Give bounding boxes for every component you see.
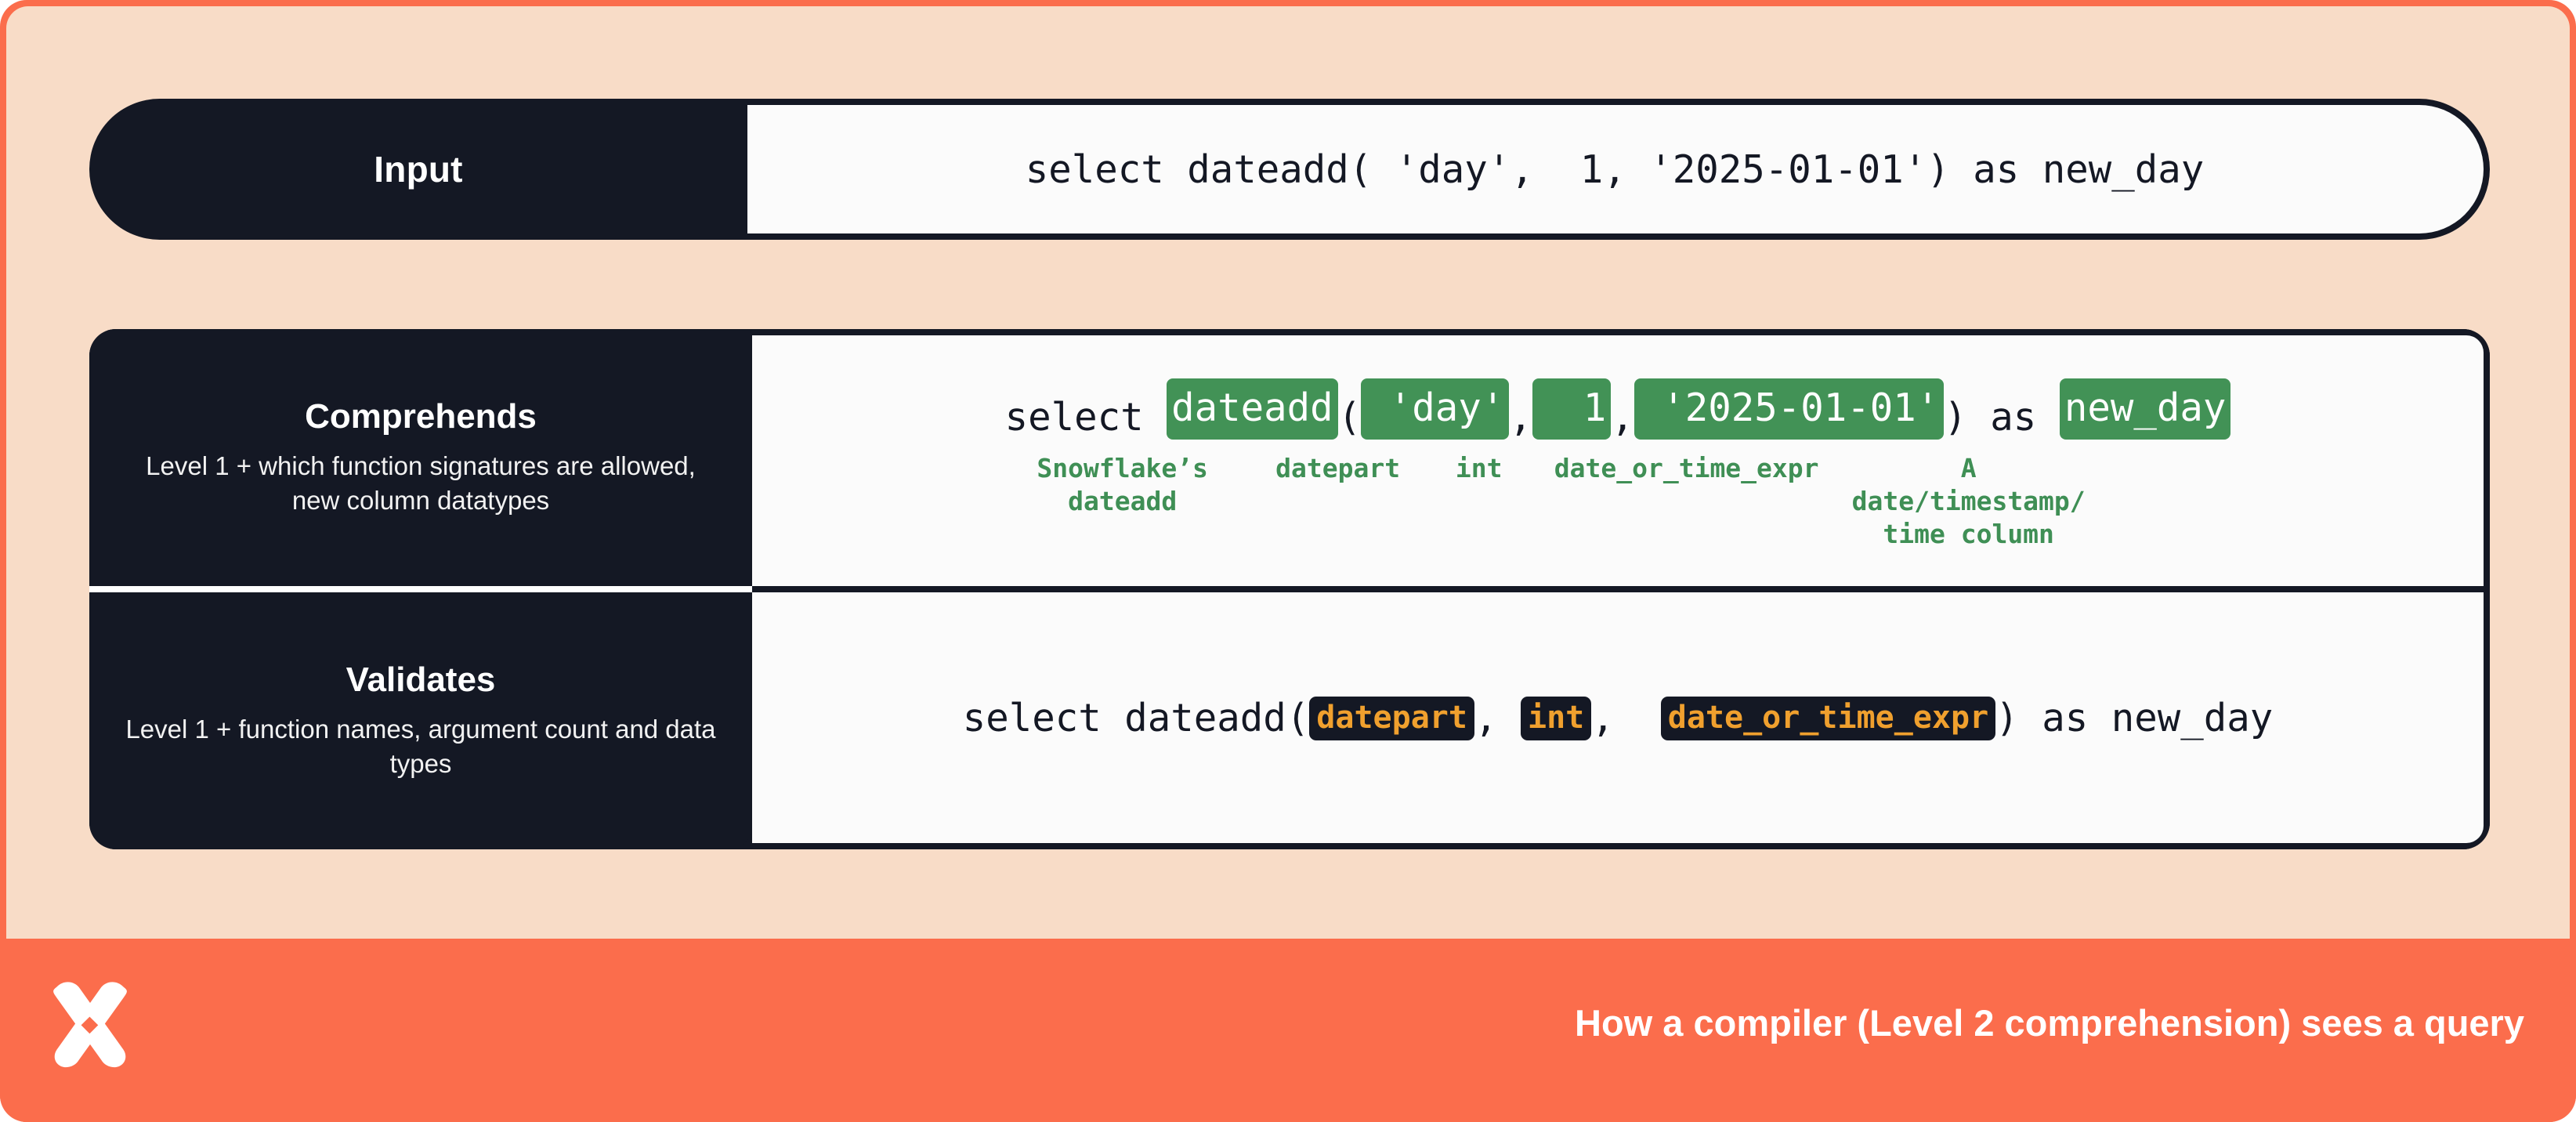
comprehends-annotation-4: A date/timestamp/ time column — [1851, 452, 2086, 552]
comprehends-annotation-3: date_or_time_expr — [1522, 452, 1851, 485]
comprehends-token-3: 'day' — [1361, 378, 1509, 440]
validates-row: Validates Level 1 + function names, argu… — [89, 592, 2490, 849]
validates-token-0: select dateadd( — [963, 696, 1310, 740]
comprehends-token-10: new_day — [2060, 378, 2231, 440]
comprehends-row: Comprehends Level 1 + which function sig… — [89, 329, 2490, 586]
comprehends-token-4: , — [1509, 395, 1532, 440]
validates-token-4: int — [1521, 697, 1591, 740]
comprehends-title: Comprehends — [305, 397, 537, 436]
validates-token-2: , — [1474, 696, 1498, 740]
comprehends-token-1: dateadd — [1167, 378, 1338, 440]
levels-card: Comprehends Level 1 + which function sig… — [89, 329, 2490, 849]
comprehends-token-5: 1 — [1532, 378, 1612, 440]
comprehends-subtitle: Level 1 + which function signatures are … — [125, 449, 716, 517]
content-stage: Input select dateadd( 'day', 1, '2025-01… — [6, 6, 2570, 939]
validates-token-3 — [1497, 696, 1521, 740]
comprehends-annotation-1: datepart — [1240, 452, 1436, 485]
comprehends-annotation-2: int — [1436, 452, 1522, 485]
footer-caption: How a compiler (Level 2 comprehension) s… — [1575, 1001, 2524, 1044]
validates-title: Validates — [346, 661, 496, 700]
comprehends-code-panel: select dateadd( 'day', 1, '2025-01-01') … — [752, 329, 2490, 586]
comprehends-token-7: '2025-01-01' — [1634, 378, 1945, 440]
poster-frame: Input select dateadd( 'day', 1, '2025-01… — [0, 0, 2576, 1122]
comprehends-token-8: ) — [1944, 395, 1967, 440]
label-column-divider — [89, 586, 752, 592]
validates-code-panel: select dateadd(datepart, int, date_or_ti… — [752, 592, 2490, 849]
code-column-divider — [752, 586, 2490, 592]
comprehends-token-6: , — [1611, 395, 1634, 440]
validates-query-line: select dateadd(datepart, int, date_or_ti… — [963, 696, 2273, 740]
comprehends-annotation-row: Snowflake’s dateadddatepartintdate_or_ti… — [1005, 452, 2086, 552]
comprehends-token-9: as — [1967, 395, 2060, 440]
input-row: Input select dateadd( 'day', 1, '2025-01… — [89, 99, 2490, 240]
validates-subtitle: Level 1 + function names, argument count… — [125, 712, 716, 780]
comprehends-annotated-block: select dateadd( 'day', 1, '2025-01-01') … — [1005, 371, 2231, 552]
x-mark-logo-icon — [44, 979, 136, 1072]
validates-token-6 — [1615, 696, 1661, 740]
input-row-code-panel: select dateadd( 'day', 1, '2025-01-01') … — [746, 99, 2490, 240]
comprehends-token-2: ( — [1338, 395, 1362, 440]
footer-bar: How a compiler (Level 2 comprehension) s… — [0, 939, 2576, 1122]
input-query-text: select dateadd( 'day', 1, '2025-01-01') … — [1026, 147, 2205, 192]
validates-token-8: ) — [1995, 696, 2019, 740]
comprehends-query-line: select dateadd( 'day', 1, '2025-01-01') … — [1005, 378, 2231, 440]
comprehends-token-0: select — [1005, 395, 1167, 440]
comprehends-annotation-0: Snowflake’s dateadd — [1005, 452, 1240, 518]
validates-token-7: date_or_time_expr — [1661, 697, 1995, 740]
comprehends-label-panel: Comprehends Level 1 + which function sig… — [89, 329, 752, 586]
validates-token-1: datepart — [1309, 697, 1474, 740]
input-row-label: Input — [89, 99, 747, 240]
validates-token-5: , — [1591, 696, 1615, 740]
validates-label-panel: Validates Level 1 + function names, argu… — [89, 592, 752, 849]
validates-token-9: as new_day — [2019, 696, 2274, 740]
